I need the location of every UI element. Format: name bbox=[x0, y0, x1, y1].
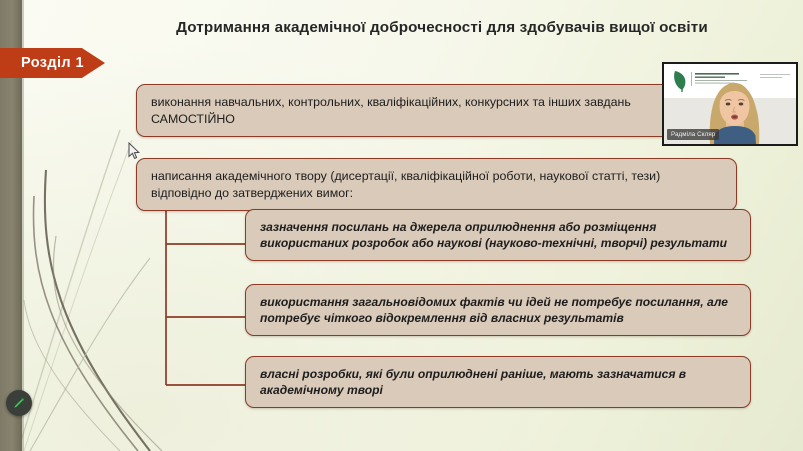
statement-box-citation-sources: зазначення посилань на джерела оприлюдне… bbox=[245, 209, 751, 261]
chapter-badge: Розділ 1 bbox=[0, 48, 105, 78]
mouse-cursor bbox=[128, 142, 142, 162]
presenter-video-thumbnail[interactable]: Радміла Скляр bbox=[662, 62, 798, 146]
statement-box-common-knowledge: використання загальновідомих фактів чи і… bbox=[245, 284, 751, 336]
presenter-name-label: Радміла Скляр bbox=[667, 129, 719, 140]
statement-box-academic-writing: написання академічного твору (дисертації… bbox=[136, 158, 737, 211]
pen-tool-button[interactable] bbox=[6, 390, 32, 416]
statement-box-self-citation: власні розробки, які були оприлюднені ра… bbox=[245, 356, 751, 408]
pen-icon bbox=[11, 395, 27, 411]
page-title: Дотримання академічної доброчесності для… bbox=[152, 18, 732, 39]
presentation-slide: Розділ 1 Дотримання академічної доброчес… bbox=[0, 0, 803, 451]
chapter-badge-label: Розділ 1 bbox=[0, 55, 84, 71]
statement-box-independent-work: виконання навчальних, контрольних, квалі… bbox=[136, 84, 705, 137]
